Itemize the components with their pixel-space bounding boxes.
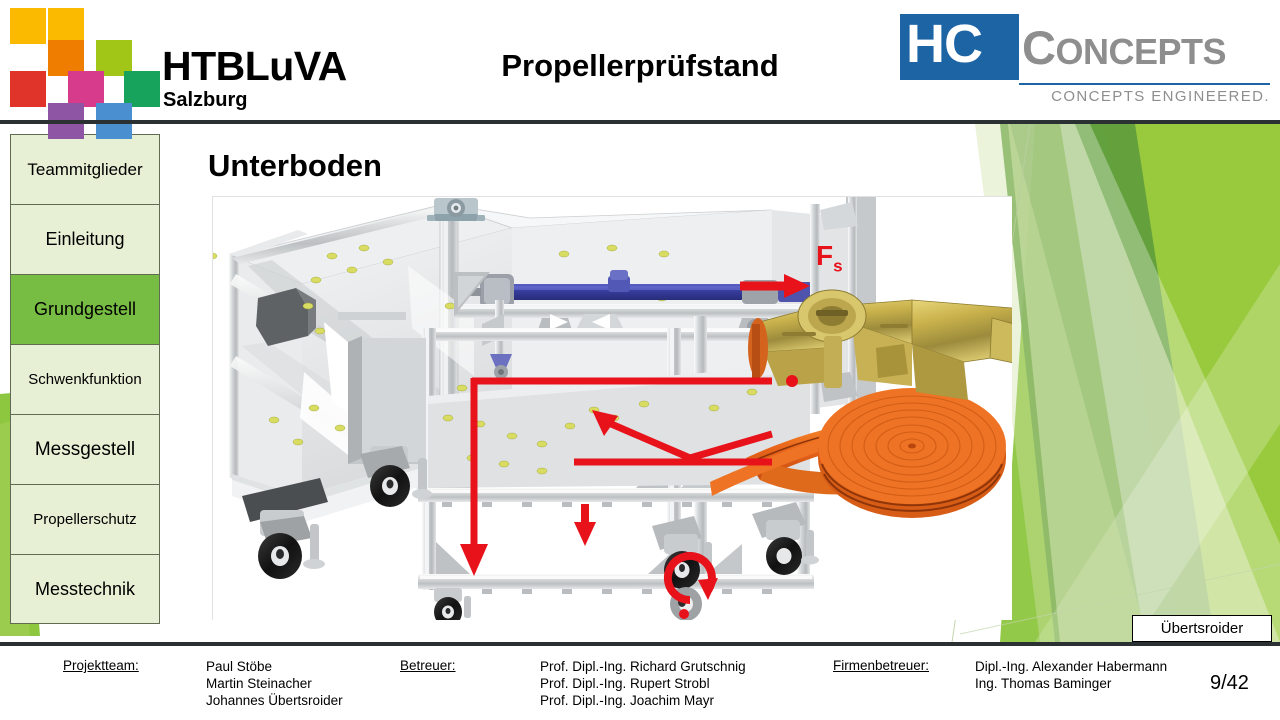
footer-name: Prof. Dipl.-Ing. Joachim Mayr [540, 692, 746, 709]
htbluva-logo: HTBLuVA Salzburg [10, 8, 355, 113]
logo-square-yellow-1 [10, 8, 46, 44]
logo-square-red [10, 71, 46, 107]
hc-logo-initials: HC [906, 17, 982, 71]
presenter-badge-label: Übertsroider [1161, 620, 1244, 637]
hc-wordmark-rest: ONCEPTS [1055, 31, 1226, 72]
sidebar-item-label: Grundgestell [34, 299, 136, 320]
sidebar-item-label: Messgestell [35, 439, 135, 461]
hc-logo-box: HC [900, 14, 1019, 80]
logo-square-magenta [68, 71, 104, 107]
sidebar-nav[interactable]: Teammitglieder Einleitung Grundgestell S… [10, 134, 160, 624]
sidebar-item-label: Schwenkfunktion [28, 371, 141, 388]
institution-name: HTBLuVA [162, 46, 347, 87]
sidebar-item-messgestell[interactable]: Messgestell [10, 414, 160, 484]
presenter-badge: Übertsroider [1132, 615, 1272, 642]
sidebar-item-schwenkfunktion[interactable]: Schwenkfunktion [10, 344, 160, 414]
figure-border-left [212, 196, 213, 620]
sidebar-item-propellerschutz[interactable]: Propellerschutz [10, 484, 160, 554]
figure-unterboden [212, 196, 1012, 620]
logo-square-yellow-2 [48, 8, 84, 44]
hc-logo-tagline: CONCEPTS ENGINEERED. [900, 88, 1270, 105]
sidebar-item-label: Propellerschutz [33, 511, 136, 528]
footer-label-projektteam: Projektteam: [63, 658, 139, 673]
bearing-block [427, 198, 485, 221]
sidebar-item-grundgestell[interactable]: Grundgestell [10, 274, 160, 344]
footer-name: Prof. Dipl.-Ing. Richard Grutschnig [540, 658, 746, 675]
force-symbol: F [816, 240, 833, 271]
sidebar-item-label: Messtechnik [35, 579, 135, 600]
page-title: Propellerprüfstand [380, 48, 900, 84]
footer-name: Ing. Thomas Baminger [975, 675, 1167, 692]
footer-name: Johannes Übertsroider [206, 692, 343, 709]
force-subscript: s [833, 257, 842, 276]
footer-name: Martin Steinacher [206, 675, 343, 692]
footer-label-firmenbetreuer: Firmenbetreuer: [833, 658, 929, 673]
hc-concepts-logo: HC CONCEPTS CONCEPTS ENGINEERED. [900, 14, 1270, 110]
hc-wordmark-cap: C [1022, 21, 1055, 74]
footer-name: Prof. Dipl.-Ing. Rupert Strobl [540, 675, 746, 692]
sidebar-item-einleitung[interactable]: Einleitung [10, 204, 160, 274]
force-label-fs: Fs [816, 242, 843, 275]
slide-header: HTBLuVA Salzburg Propellerprüfstand HC C… [0, 0, 1280, 122]
hc-logo-wordmark: CONCEPTS [1022, 24, 1226, 71]
institution-city: Salzburg [163, 90, 247, 110]
footer-name: Dipl.-Ing. Alexander Habermann [975, 658, 1167, 675]
sidebar-item-teammitglieder[interactable]: Teammitglieder [10, 134, 160, 204]
sidebar-item-messtechnik[interactable]: Messtechnik [10, 554, 160, 624]
footer-name: Paul Stöbe [206, 658, 343, 675]
underframe-cad-rendering [212, 196, 1012, 620]
page-number: 9/42 [1210, 672, 1249, 695]
slide-footer: Projektteam: Paul Stöbe Martin Steinache… [0, 646, 1280, 720]
footer-names-firmenbetreuer: Dipl.-Ing. Alexander Habermann Ing. Thom… [975, 658, 1167, 692]
footer-label-betreuer: Betreuer: [400, 658, 456, 673]
logo-square-green [124, 71, 160, 107]
hc-logo-underline [1019, 83, 1270, 85]
content-heading: Unterboden [208, 148, 382, 184]
footer-names-betreuer: Prof. Dipl.-Ing. Richard Grutschnig Prof… [540, 658, 746, 709]
figure-border-top [212, 196, 1012, 197]
sidebar-item-label: Einleitung [45, 229, 124, 250]
header-divider [0, 120, 1280, 124]
sidebar-item-label: Teammitglieder [27, 160, 142, 180]
footer-names-projektteam: Paul Stöbe Martin Steinacher Johannes Üb… [206, 658, 343, 709]
